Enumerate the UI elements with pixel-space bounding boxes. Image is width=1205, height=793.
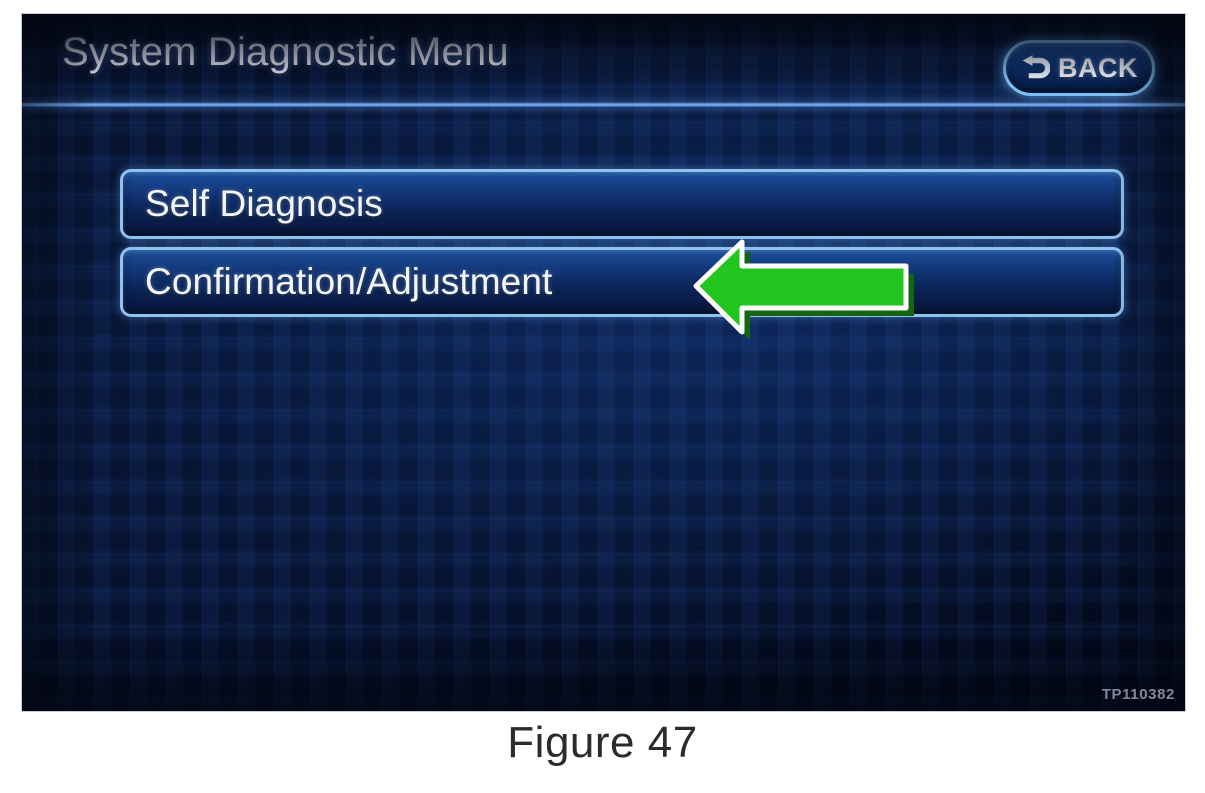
screen-background-texture xyxy=(22,14,1185,711)
diagnostic-menu-list: Self Diagnosis Confirmation/Adjustment xyxy=(120,169,1124,325)
head-unit-screen: System Diagnostic Menu BACK Self Diagnos… xyxy=(22,14,1185,711)
figure-caption: Figure 47 xyxy=(0,718,1205,768)
back-button-label: BACK xyxy=(1058,53,1138,84)
watermark-code: TP110382 xyxy=(1102,686,1175,703)
header-divider xyxy=(22,102,1185,108)
menu-item-label: Confirmation/Adjustment xyxy=(123,261,552,303)
back-arrow-icon xyxy=(1020,55,1050,81)
back-button[interactable]: BACK xyxy=(1003,40,1155,96)
page-title: System Diagnostic Menu xyxy=(62,30,509,75)
menu-item-label: Self Diagnosis xyxy=(123,183,383,225)
menu-item-self-diagnosis[interactable]: Self Diagnosis xyxy=(120,169,1124,239)
screen-header: System Diagnostic Menu BACK xyxy=(22,14,1185,96)
menu-item-confirmation-adjustment[interactable]: Confirmation/Adjustment xyxy=(120,247,1124,317)
figure-container: System Diagnostic Menu BACK Self Diagnos… xyxy=(0,0,1205,793)
